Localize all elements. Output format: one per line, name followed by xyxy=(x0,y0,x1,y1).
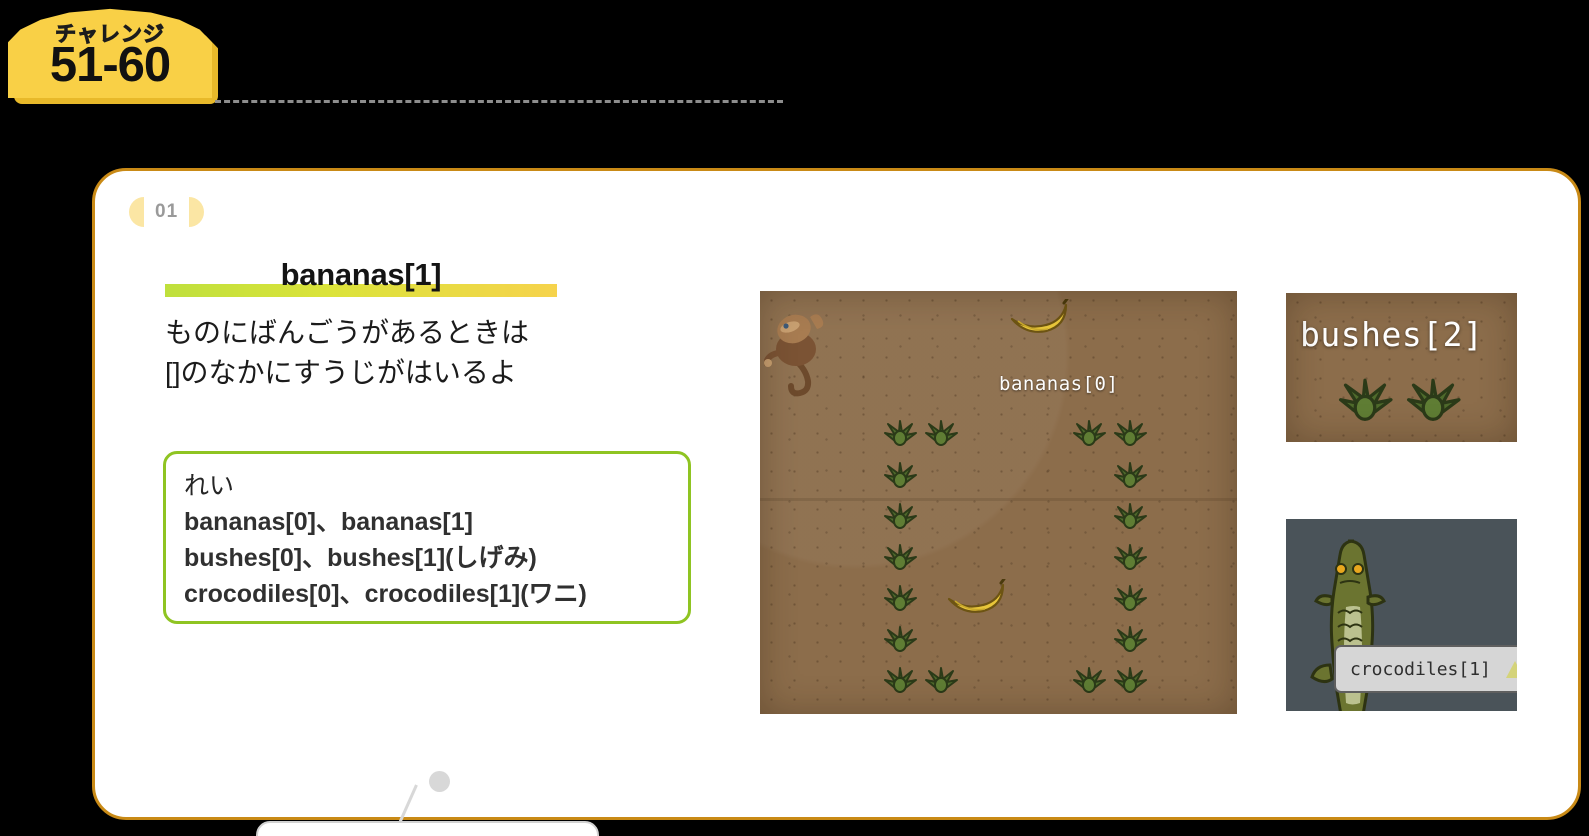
example-line-1: bananas[0]、bananas[1] xyxy=(184,504,670,540)
lead-line-2: []のなかにすうじがはいるよ xyxy=(165,353,765,393)
ground-texture xyxy=(760,291,1237,714)
monkey-icon xyxy=(764,297,830,397)
bushes-label: bushes[2] xyxy=(1300,315,1483,354)
example-box: れい bananas[0]、bananas[1] bushes[0]、bushe… xyxy=(163,451,691,624)
bushes-screenshot: bushes[2] xyxy=(1286,293,1517,442)
badge-dashed-rule xyxy=(215,100,783,103)
crocodile-tooltip: crocodiles[1] xyxy=(1334,645,1517,693)
step-pill: 01 xyxy=(129,197,204,227)
badge-range-label: 51-60 xyxy=(8,38,212,92)
lesson-text-column: bananas[1] ものにばんごうがあるときは []のなかにすうじがはいるよ xyxy=(165,251,765,393)
bush-icon-0 xyxy=(1334,377,1396,429)
callout-connector-dot xyxy=(429,771,450,792)
lesson-lead-text: ものにばんごうがあるときは []のなかにすうじがはいるよ xyxy=(165,313,765,393)
game-screenshot: bananas[0] xyxy=(760,291,1237,714)
page-title: bananas[1] xyxy=(165,257,557,293)
game-shot-label: bananas[0] xyxy=(999,373,1118,395)
lesson-title-block: bananas[1] xyxy=(165,251,557,297)
example-line-0: れい xyxy=(184,468,670,504)
lesson-card: 01 bananas[1] ものにばんごうがあるときは []のなかにすうじがはい… xyxy=(92,168,1581,820)
step-pill-cap-left xyxy=(129,197,144,227)
crocodile-tooltip-label: crocodiles[1] xyxy=(1350,659,1491,680)
example-line-3: crocodiles[0]、crocodiles[1](ワニ) xyxy=(184,576,670,612)
banana-icon-top xyxy=(1008,299,1070,337)
challenge-badge: チャレンジ 51-60 xyxy=(8,8,218,104)
example-line-2: bushes[0]、bushes[1](しげみ) xyxy=(184,540,670,576)
step-number-label: 01 xyxy=(144,201,189,223)
triangle-marker-icon xyxy=(1506,661,1517,678)
bush-icon-1 xyxy=(1402,377,1464,429)
callout-bubble: プログラミングでは 0からかぞえはじめるよ xyxy=(256,821,599,836)
banana-icon-bottom xyxy=(945,579,1007,617)
page-root: チャレンジ 51-60 01 bananas[1] ものにばんごうがあるときは … xyxy=(0,0,1589,836)
ground-seam xyxy=(760,498,1237,501)
lead-line-1: ものにばんごうがあるときは xyxy=(165,313,765,353)
crocodile-screenshot: crocodiles[1] xyxy=(1286,519,1517,711)
step-pill-cap-right xyxy=(189,197,204,227)
